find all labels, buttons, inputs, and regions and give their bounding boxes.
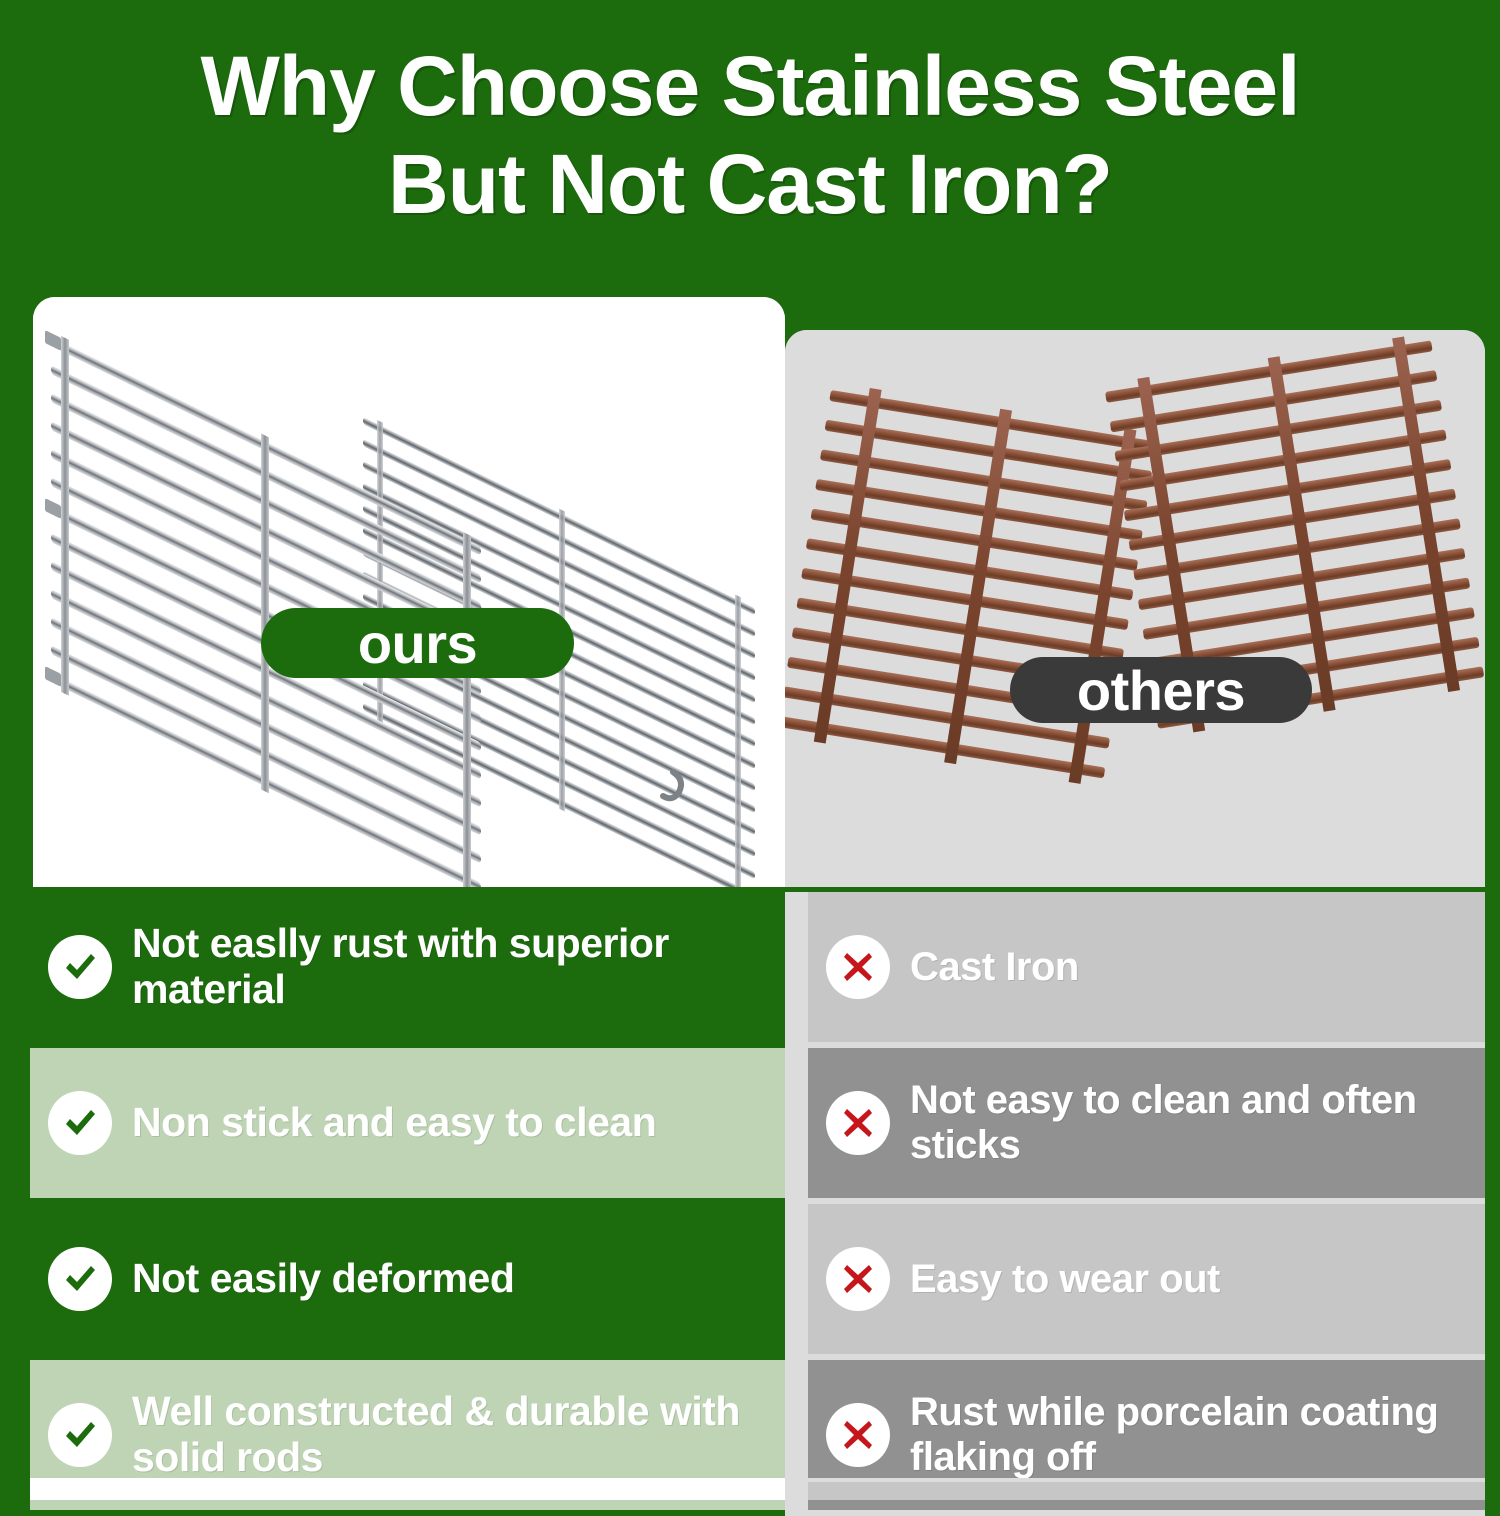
- list-item: Cast Iron: [808, 892, 1485, 1042]
- next-row-peek-left: [30, 1478, 786, 1500]
- badge-others-label: others: [1077, 658, 1245, 723]
- list-item: Not easy to clean and often sticks: [808, 1048, 1485, 1198]
- ours-feature-list: Not easlly rust with superior material N…: [30, 892, 786, 1516]
- list-item: Not easlly rust with superior material: [30, 892, 786, 1042]
- list-item-label: Not easlly rust with superior material: [132, 921, 764, 1013]
- list-item-label: Cast Iron: [910, 945, 1079, 990]
- list-item-label: Easy to wear out: [910, 1257, 1220, 1302]
- next-row-peek: [0, 1478, 1500, 1500]
- list-item-label: Well constructed & durable with solid ro…: [132, 1389, 764, 1481]
- list-item-label: Not easily deformed: [132, 1256, 514, 1302]
- list-item: Easy to wear out: [808, 1204, 1485, 1354]
- cross-icon: [826, 935, 890, 999]
- cross-icon: [826, 1091, 890, 1155]
- badge-ours: ours: [261, 608, 574, 678]
- stainless-steel-grate-image: [33, 297, 785, 887]
- cross-icon: [826, 1403, 890, 1467]
- title-line-2: But Not Cast Iron?: [0, 142, 1500, 226]
- badge-others: others: [1010, 657, 1312, 723]
- list-item: Not easily deformed: [30, 1204, 786, 1354]
- cast-iron-rusty-grate-image: [785, 330, 1485, 887]
- list-item: Non stick and easy to clean: [30, 1048, 786, 1198]
- badge-ours-label: ours: [358, 611, 477, 676]
- feature-comparison-rows: Not easlly rust with superior material N…: [0, 892, 1500, 1500]
- page-title: Why Choose Stainless Steel But Not Cast …: [0, 44, 1500, 226]
- cross-icon: [826, 1247, 890, 1311]
- list-item-label: Non stick and easy to clean: [132, 1100, 656, 1146]
- others-feature-list: Cast Iron Not easy to clean and often st…: [785, 892, 1485, 1516]
- ours-product-panel: [33, 297, 785, 887]
- next-row-peek-right-inner: [808, 1482, 1485, 1500]
- check-icon: [48, 1247, 112, 1311]
- check-icon: [48, 1091, 112, 1155]
- title-line-1: Why Choose Stainless Steel: [0, 44, 1500, 128]
- hero-comparison-images: ours others: [0, 297, 1500, 892]
- others-product-panel: [785, 330, 1485, 887]
- check-icon: [48, 1403, 112, 1467]
- list-item-label: Rust while porcelain coating flaking off: [910, 1390, 1471, 1480]
- check-icon: [48, 935, 112, 999]
- list-item-label: Not easy to clean and often sticks: [910, 1078, 1471, 1168]
